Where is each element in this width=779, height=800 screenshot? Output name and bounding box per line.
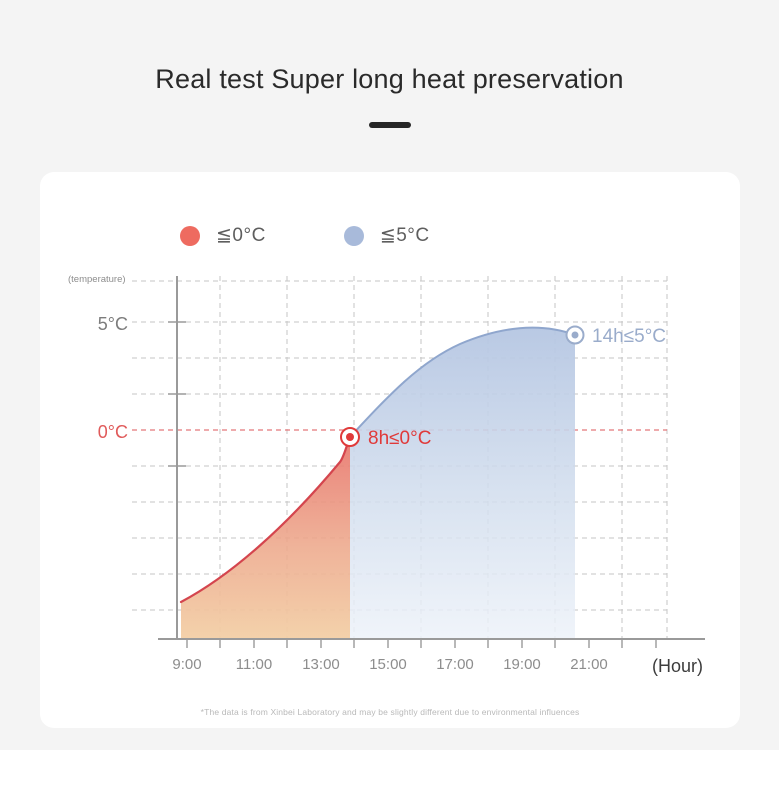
- x-axis-title: (Hour): [652, 656, 703, 676]
- ring-marker-core-icon: [346, 433, 354, 441]
- chart-footnote: *The data is from Xinbei Laboratory and …: [40, 707, 740, 717]
- x-axis-ticks: [187, 639, 656, 648]
- svg-text:11:00: 11:00: [236, 656, 272, 673]
- svg-text:17:00: 17:00: [436, 656, 474, 673]
- annotation-14h[interactable]: 14h≤5°C: [567, 326, 667, 347]
- annotation-8h-label: 8h≤0°C: [368, 428, 431, 449]
- svg-text:13:00: 13:00: [302, 656, 340, 673]
- page-title: Real test Super long heat preservation: [0, 62, 779, 96]
- x-tick-labels: 9:00 11:00 13:00 15:00 17:00 19:00 21:00: [172, 656, 607, 673]
- svg-text:15:00: 15:00: [369, 656, 407, 673]
- svg-text:19:00: 19:00: [503, 656, 541, 673]
- series-area-cool: [350, 328, 575, 638]
- chart-card: ≦0°C ≦5°C: [40, 172, 740, 728]
- y-tick-label-5c: 5°C: [98, 314, 128, 334]
- svg-text:9:00: 9:00: [172, 656, 201, 673]
- page-root: Real test Super long heat preservation ≦…: [0, 0, 779, 800]
- chart-plot-area: (temperature) 5°C 0°C 9:00 11:00 13:00 1…: [40, 172, 740, 728]
- y-axis-title: (temperature): [68, 274, 126, 285]
- annotation-14h-label: 14h≤5°C: [592, 326, 666, 347]
- ring-marker-core-icon: [572, 332, 579, 339]
- title-underline-rule: [369, 122, 411, 128]
- svg-text:21:00: 21:00: [570, 656, 608, 673]
- temperature-area-chart: (temperature) 5°C 0°C 9:00 11:00 13:00 1…: [40, 172, 740, 728]
- annotation-8h[interactable]: 8h≤0°C: [341, 428, 431, 449]
- y-tick-label-0c: 0°C: [98, 422, 128, 442]
- title-block: Real test Super long heat preservation: [0, 62, 779, 128]
